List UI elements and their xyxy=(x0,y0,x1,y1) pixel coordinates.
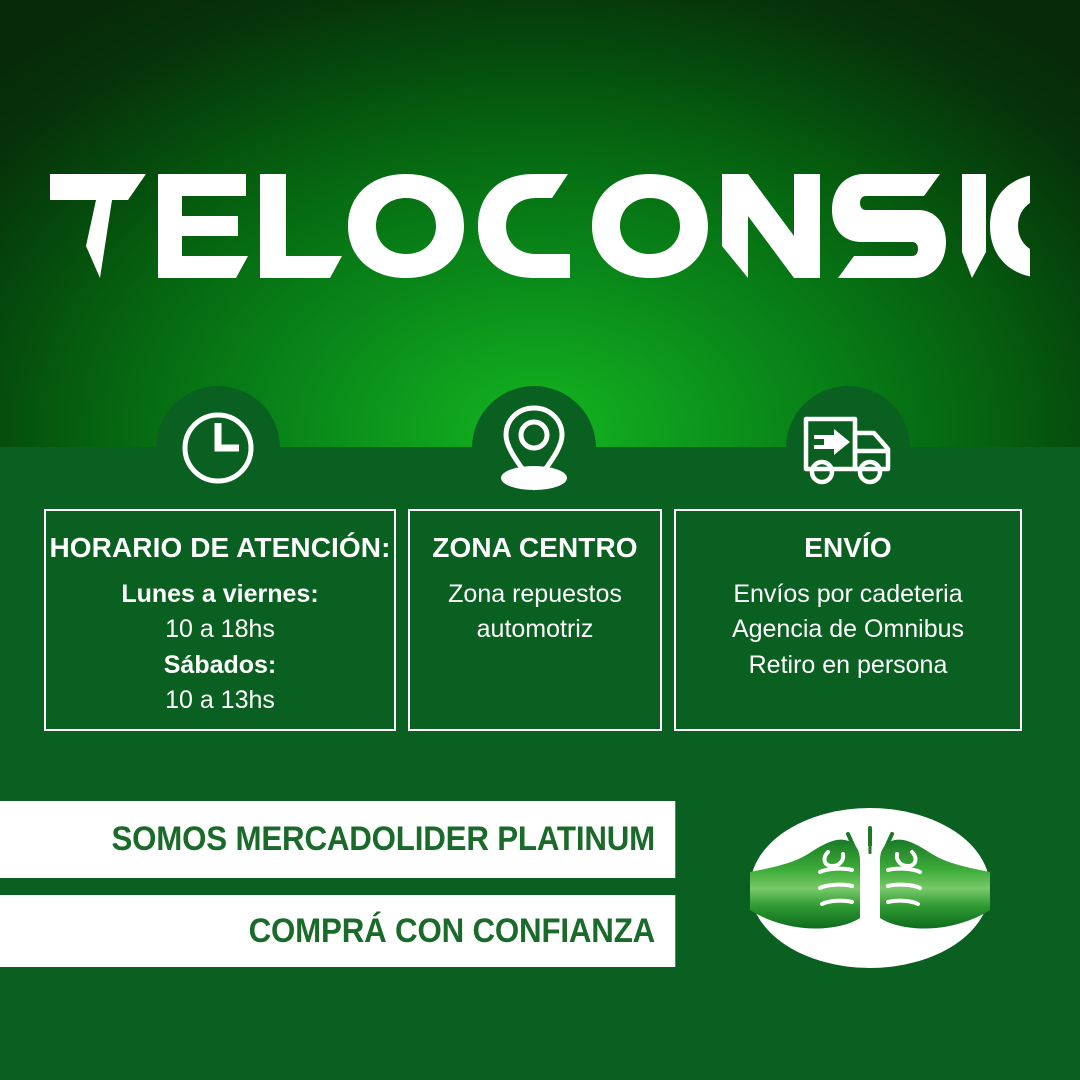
info-card-line: 10 a 18hs xyxy=(46,612,394,648)
banner-label: SOMOS MERCADOLIDER PLATINUM xyxy=(111,820,655,859)
brand-logo-wordmark xyxy=(50,174,1030,282)
delivery-truck-icon xyxy=(800,409,896,487)
banner-mercadolider: SOMOS MERCADOLIDER PLATINUM xyxy=(0,801,675,878)
location-pin-icon xyxy=(491,402,577,494)
fist-bump-seal xyxy=(748,806,992,970)
info-card-line: Lunes a viernes: xyxy=(46,577,394,613)
fist-bump-icon xyxy=(748,806,992,970)
info-card-line: Envíos por cadeteria xyxy=(676,577,1020,613)
info-card-zona: ZONA CENTRO Zona repuestos automotriz xyxy=(408,509,662,731)
info-card-horario: HORARIO DE ATENCIÓN: Lunes a viernes: 10… xyxy=(44,509,396,731)
delivery-truck-icon-wrap xyxy=(786,386,910,510)
clock-icon-wrap xyxy=(156,386,280,510)
location-pin-icon-wrap xyxy=(472,386,596,510)
info-card-line: 10 a 13hs xyxy=(46,683,394,719)
banner-label: COMPRÁ CON CONFIANZA xyxy=(249,912,655,951)
info-card-title: ENVÍO xyxy=(676,531,1020,565)
banner-confianza: COMPRÁ CON CONFIANZA xyxy=(0,895,675,967)
info-card-line: Agencia de Omnibus xyxy=(676,612,1020,648)
info-card-line: Zona repuestos xyxy=(410,577,660,613)
info-card-envio: ENVÍO Envíos por cadeteria Agencia de Om… xyxy=(674,509,1022,731)
info-card-title: ZONA CENTRO xyxy=(410,531,660,565)
info-card-title: HORARIO DE ATENCIÓN: xyxy=(46,531,394,565)
info-card-line: Retiro en persona xyxy=(676,648,1020,684)
info-card-line: automotriz xyxy=(410,612,660,648)
brand-logo xyxy=(0,168,1080,288)
promo-banner-root: HORARIO DE ATENCIÓN: Lunes a viernes: 10… xyxy=(0,0,1080,1080)
info-card-line: Sábados: xyxy=(46,648,394,684)
clock-icon xyxy=(175,405,261,491)
